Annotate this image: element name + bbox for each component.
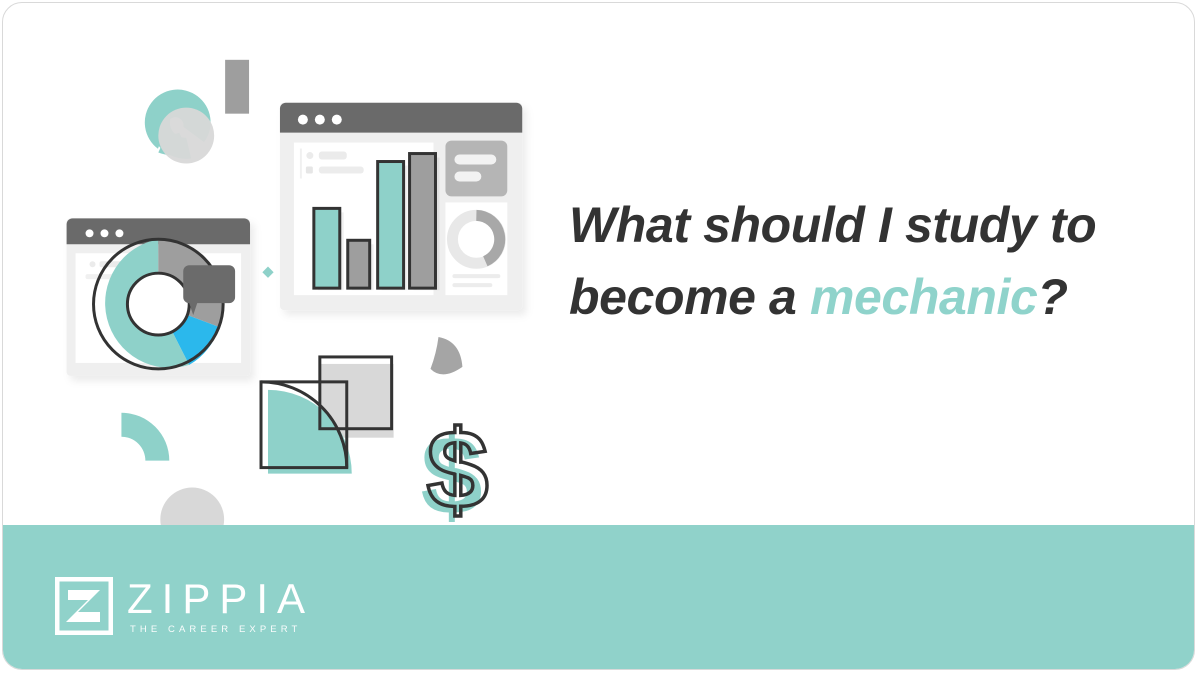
gray-petal bbox=[431, 337, 463, 374]
gray-circle-top bbox=[158, 108, 214, 164]
bar-2 bbox=[348, 240, 370, 288]
dollar-sign: $ $ bbox=[421, 406, 489, 537]
bar-3 bbox=[378, 162, 404, 289]
window-dot bbox=[115, 229, 123, 237]
window-dot bbox=[298, 115, 308, 125]
window-dot bbox=[86, 229, 94, 237]
zippia-z-mark bbox=[55, 577, 113, 635]
headline-accent-word: mechanic bbox=[810, 269, 1037, 325]
promo-card: $ $ What should I study to become a mech… bbox=[2, 2, 1195, 670]
zippia-logo[interactable]: ZIPPIA THE CAREER EXPERT bbox=[55, 573, 305, 639]
gray-bar-top bbox=[225, 60, 249, 114]
zippia-wordmark: ZIPPIA bbox=[127, 578, 314, 620]
window-dot bbox=[332, 115, 342, 125]
window-dot bbox=[100, 229, 108, 237]
headline-line-1: What should I study to bbox=[569, 189, 1169, 261]
zippia-tagline: THE CAREER EXPERT bbox=[130, 625, 314, 635]
window-dot bbox=[315, 115, 325, 125]
headline-line-1-text: What should I study to bbox=[569, 197, 1096, 253]
bar-4 bbox=[410, 154, 436, 289]
svg-text:$: $ bbox=[427, 406, 489, 531]
teal-diamond bbox=[262, 267, 273, 278]
headline-line-2-prefix: become a bbox=[569, 269, 810, 325]
small-window-donut-chart bbox=[94, 239, 224, 369]
teal-quarter-arc-left bbox=[121, 413, 169, 461]
page-title: What should I study to become a mechanic… bbox=[569, 189, 1169, 333]
headline-line-2: become a mechanic? bbox=[569, 261, 1169, 333]
headline-line-2-suffix: ? bbox=[1037, 269, 1067, 325]
bar-1 bbox=[314, 208, 340, 288]
